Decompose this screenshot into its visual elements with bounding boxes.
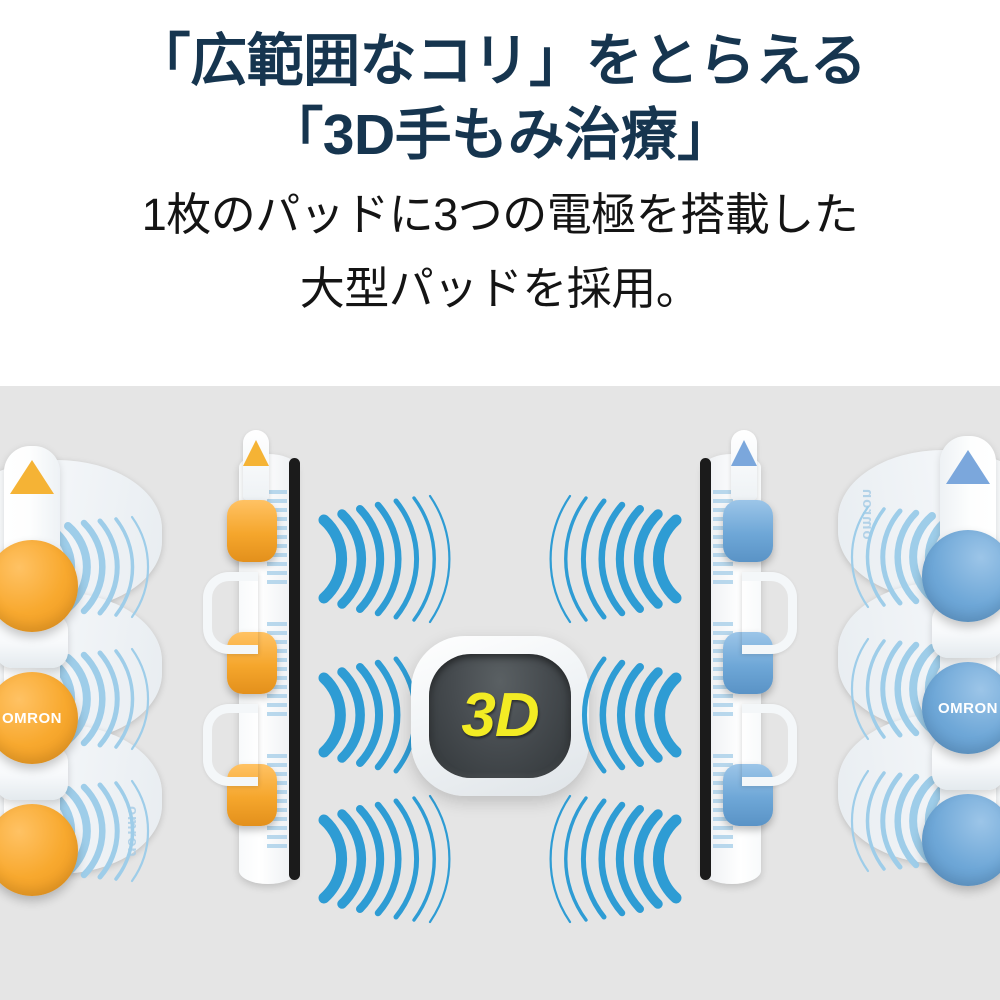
triangle-marker-icon	[243, 440, 269, 466]
header-text-block: 「広範囲なコリ」をとらえる 「3D手もみ治療」 1枚のパッドに3つの電極を搭載し…	[0, 0, 1000, 386]
badge-3d-label: 3D	[461, 685, 538, 747]
triangle-marker-icon	[10, 460, 54, 494]
badge-3d-face: 3D	[429, 654, 571, 778]
pad-hook	[742, 572, 797, 654]
pad-front-left: omron	[0, 454, 162, 884]
headline-line-1: 「広範囲なコリ」をとらえる	[0, 24, 1000, 98]
pad-side-left	[215, 444, 325, 894]
pad-side-dark-edge	[289, 458, 300, 880]
page-subtitle: 1枚のパッドに3つの電極を搭載した 大型パッドを採用。	[0, 172, 1000, 326]
electrode-orange-top[interactable]	[227, 500, 277, 562]
badge-3d: 3D	[411, 636, 589, 796]
electrode-blue-top[interactable]	[723, 500, 773, 562]
pad-side-dark-edge	[700, 458, 711, 880]
pad-hook	[203, 704, 258, 786]
pad-hook	[742, 704, 797, 786]
wave-left-bottom	[318, 794, 438, 924]
subhead-line-2: 大型パッドを採用。	[0, 252, 1000, 326]
wave-right-top	[562, 494, 682, 624]
headline-line-2: 「3D手もみ治療」	[0, 98, 1000, 172]
product-photo-area: omron	[0, 386, 1000, 1000]
product-feature-banner: 「広範囲なコリ」をとらえる 「3D手もみ治療」 1枚のパッドに3つの電極を搭載し…	[0, 0, 1000, 1000]
pad-hook	[203, 572, 258, 654]
triangle-marker-icon	[731, 440, 757, 466]
pad-front-right: omron	[838, 444, 1000, 874]
electrode-brand-label: OMRON	[938, 700, 998, 717]
pad-side-right	[675, 444, 785, 894]
wave-left-middle	[318, 654, 410, 776]
electrode-brand-label: OMRON	[2, 710, 62, 727]
wave-left-top	[318, 494, 438, 624]
wave-right-bottom	[562, 794, 682, 924]
wave-right-middle	[590, 654, 682, 776]
page-title: 「広範囲なコリ」をとらえる 「3D手もみ治療」	[0, 0, 1000, 172]
subhead-line-1: 1枚のパッドに3つの電極を搭載した	[0, 178, 1000, 252]
triangle-marker-icon	[946, 450, 990, 484]
